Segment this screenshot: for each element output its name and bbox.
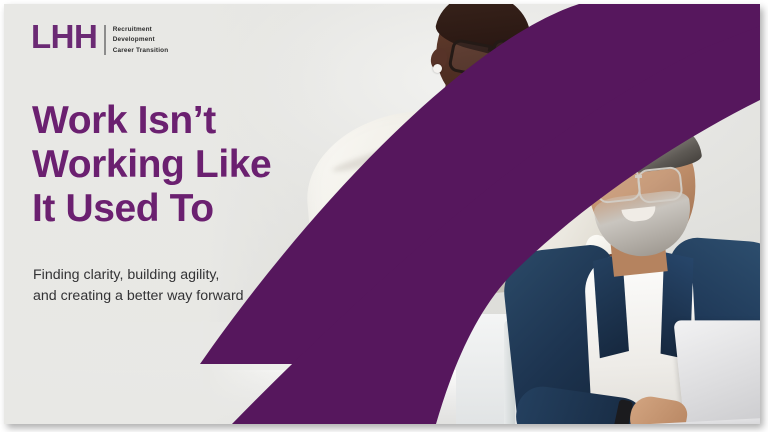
logo-tagline: Recruitment Development Career Transitio… [113,25,169,56]
slide-headline: Work Isn’t Working Like It Used To [32,99,271,231]
logo-tagline-line-1: Recruitment [113,25,169,35]
subhead-line-1: Finding clarity, building agility, [33,265,244,286]
slide-subheadline: Finding clarity, building agility, and c… [33,265,244,307]
logo-divider-rule [104,25,105,55]
logo-tagline-line-3: Career Transition [113,46,169,56]
subhead-line-2: and creating a better way forward [33,286,244,307]
headline-line-2: Working Like [32,143,271,187]
logo-tagline-line-2: Development [113,35,169,45]
headline-line-1: Work Isn’t [32,99,271,143]
slide-canvas: LHH Recruitment Development Career Trans… [4,4,760,424]
logo-wordmark: LHH [31,23,97,51]
lhh-logo[interactable]: LHH Recruitment Development Career Trans… [31,23,168,56]
headline-line-3: It Used To [32,187,271,231]
